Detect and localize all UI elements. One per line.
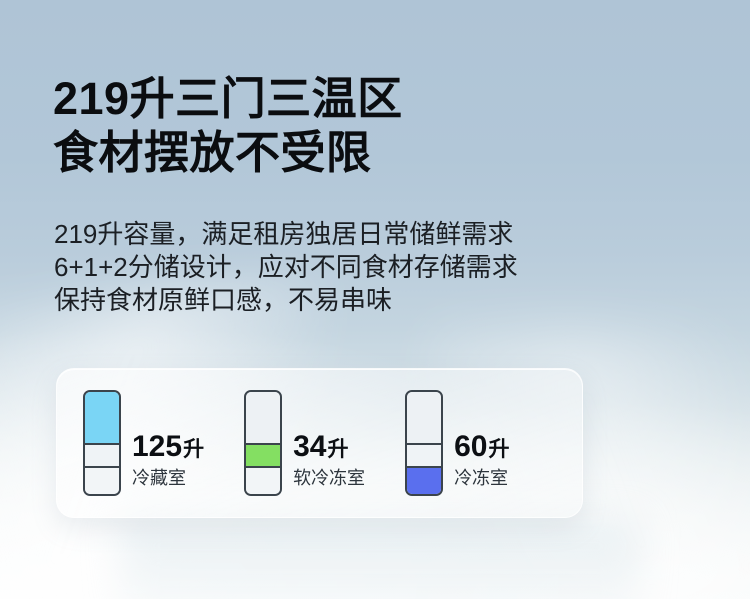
subcopy-line-2: 6+1+2分储设计，应对不同食材存储需求 (54, 251, 518, 284)
capacity-zone-list: 125升 冷藏室 34升 软冷冻室 (57, 369, 582, 517)
capacity-zone-freezer: 60升 冷冻室 (405, 390, 509, 496)
capacity-zone-value: 34升 (293, 431, 365, 466)
capacity-zone-value: 125升 (132, 431, 204, 466)
capacity-zone-unit: 升 (183, 438, 204, 461)
headline: 219升三门三温区 食材摆放不受限 (53, 72, 403, 180)
refrigerator-segment-bottom (85, 466, 119, 494)
subcopy-line-1: 219升容量，满足租房独居日常储鲜需求 (54, 218, 518, 251)
headline-line-2: 食材摆放不受限 (53, 126, 403, 180)
headline-line-1: 219升三门三温区 (53, 72, 403, 126)
capacity-zone-text: 60升 冷冻室 (454, 431, 509, 496)
capacity-zone-fridge: 125升 冷藏室 (83, 390, 204, 496)
capacity-zone-number: 34 (293, 430, 326, 463)
capacity-zone-name: 冷冻室 (454, 467, 509, 490)
refrigerator-segment-middle (246, 443, 280, 466)
refrigerator-segment-top (85, 392, 119, 443)
background-sheen-bottom (120, 520, 640, 599)
refrigerator-icon (83, 390, 121, 496)
capacity-zone-number: 60 (454, 430, 487, 463)
capacity-zone-name: 软冷冻室 (293, 467, 365, 490)
refrigerator-icon (244, 390, 282, 496)
refrigerator-segment-bottom (407, 466, 441, 494)
subcopy: 219升容量，满足租房独居日常储鲜需求 6+1+2分储设计，应对不同食材存储需求… (54, 218, 518, 317)
capacity-card: 125升 冷藏室 34升 软冷冻室 (56, 368, 583, 518)
capacity-zone-unit: 升 (327, 438, 348, 461)
capacity-zone-name: 冷藏室 (132, 467, 204, 490)
capacity-zone-number: 125 (132, 430, 182, 463)
refrigerator-icon (405, 390, 443, 496)
refrigerator-segment-top (246, 392, 280, 443)
capacity-zone-text: 34升 软冷冻室 (293, 431, 365, 496)
refrigerator-segment-middle (85, 443, 119, 466)
refrigerator-segment-top (407, 392, 441, 443)
promo-page: 219升三门三温区 食材摆放不受限 219升容量，满足租房独居日常储鲜需求 6+… (0, 0, 750, 599)
refrigerator-segment-middle (407, 443, 441, 466)
subcopy-line-3: 保持食材原鲜口感，不易串味 (54, 284, 518, 317)
refrigerator-segment-bottom (246, 466, 280, 494)
capacity-zone-text: 125升 冷藏室 (132, 431, 204, 496)
capacity-zone-unit: 升 (488, 438, 509, 461)
capacity-zone-value: 60升 (454, 431, 509, 466)
capacity-zone-soft-freezer: 34升 软冷冻室 (244, 390, 365, 496)
